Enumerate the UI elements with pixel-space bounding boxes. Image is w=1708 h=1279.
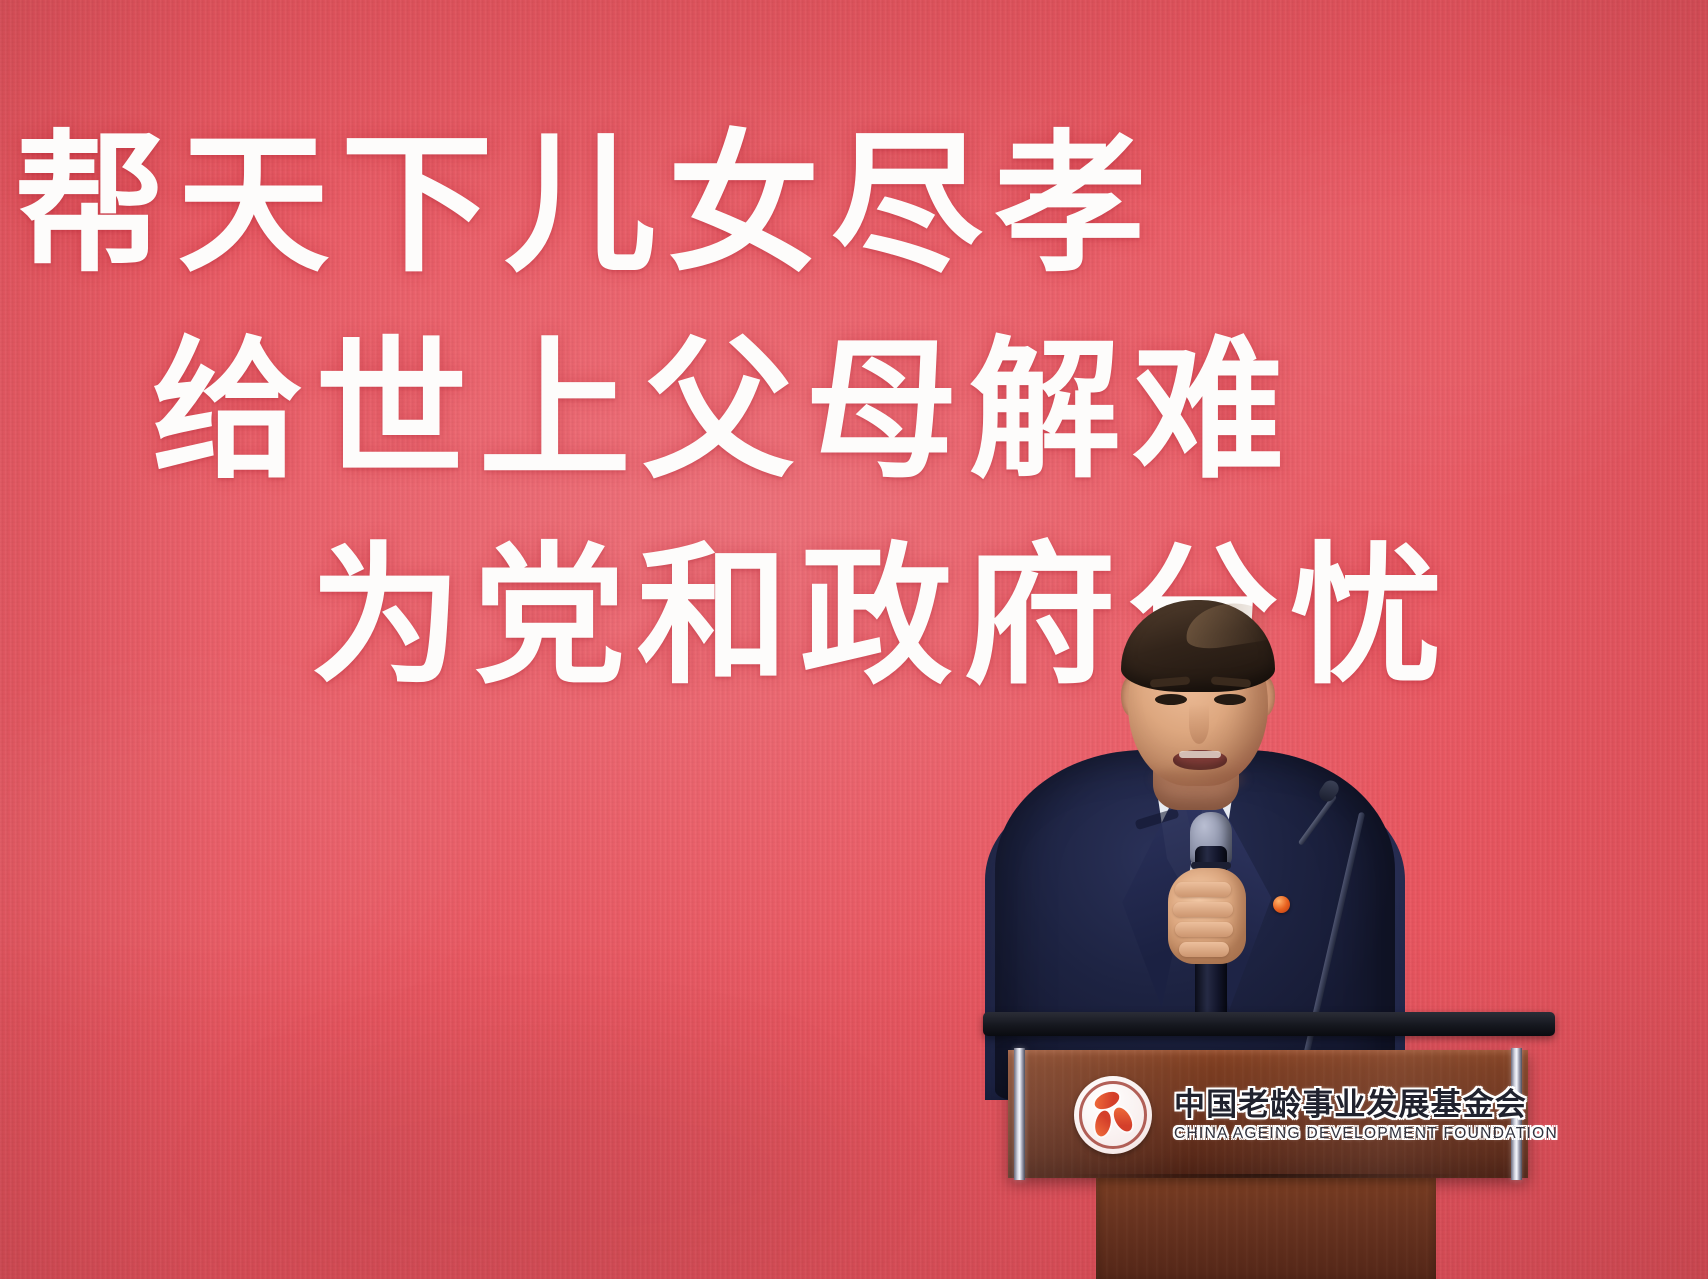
speaker-nose [1189,704,1209,744]
speaker-finger [1179,942,1229,957]
speaker-teeth [1179,751,1221,758]
podium-name-plaque: 中国老龄事业发展基金会 CHINA AGEING DEVELOPMENT FOU… [1170,1078,1518,1154]
organization-name-english: CHINA AGEING DEVELOPMENT FOUNDATION [1174,1125,1518,1143]
speaker-finger [1175,922,1233,937]
organization-name-chinese: 中国老龄事业发展基金会 [1174,1089,1518,1122]
speaker-eye-right [1214,694,1246,705]
foundation-emblem-icon [1074,1076,1152,1154]
speaker-finger [1175,882,1231,897]
podium: 中国老龄事业发展基金会 CHINA AGEING DEVELOPMENT FOU… [1008,1050,1528,1279]
stage-photo: 帮天下儿女尽孝 给世上父母解难 为党和政府分忧 [0,0,1708,1279]
lapel-pin-icon [1273,896,1290,913]
speaker-eye-left [1155,694,1187,705]
speaker-finger [1173,902,1233,917]
speaker-chin-shadow [1153,768,1245,790]
podium-base-wood-grain [1096,1178,1436,1279]
podium-top-surface [983,1012,1555,1036]
podium-trim-left [1014,1048,1025,1180]
podium-base-column [1096,1178,1436,1279]
